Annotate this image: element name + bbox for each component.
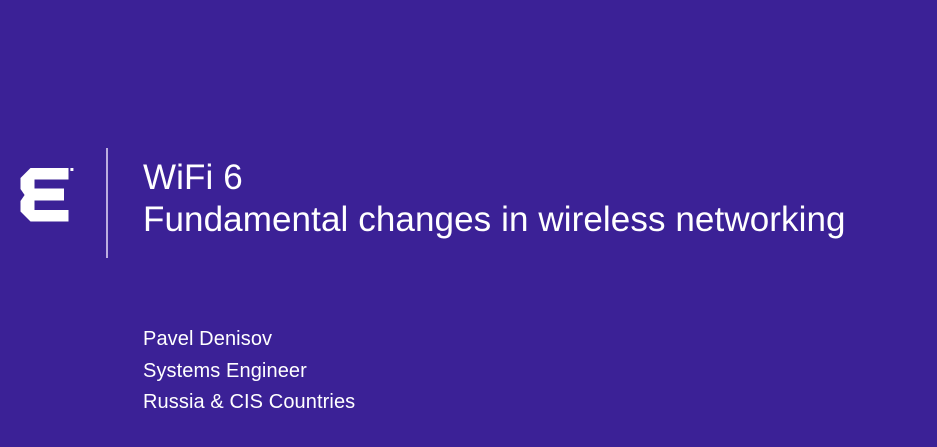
presenter-region: Russia & CIS Countries — [143, 387, 643, 419]
title-line-secondary: Fundamental changes in wireless networki… — [143, 199, 933, 241]
presenter-info: Pavel Denisov Systems Engineer Russia & … — [143, 324, 643, 419]
presentation-title-slide: WiFi 6 Fundamental changes in wireless n… — [0, 0, 937, 447]
extreme-networks-e-logo-icon — [18, 168, 74, 222]
brand-logo — [18, 168, 74, 222]
vertical-divider — [106, 148, 108, 258]
title-line-primary: WiFi 6 — [143, 157, 933, 199]
page-title: WiFi 6 Fundamental changes in wireless n… — [143, 157, 933, 241]
presenter-role: Systems Engineer — [143, 356, 643, 388]
presenter-name: Pavel Denisov — [143, 324, 643, 356]
